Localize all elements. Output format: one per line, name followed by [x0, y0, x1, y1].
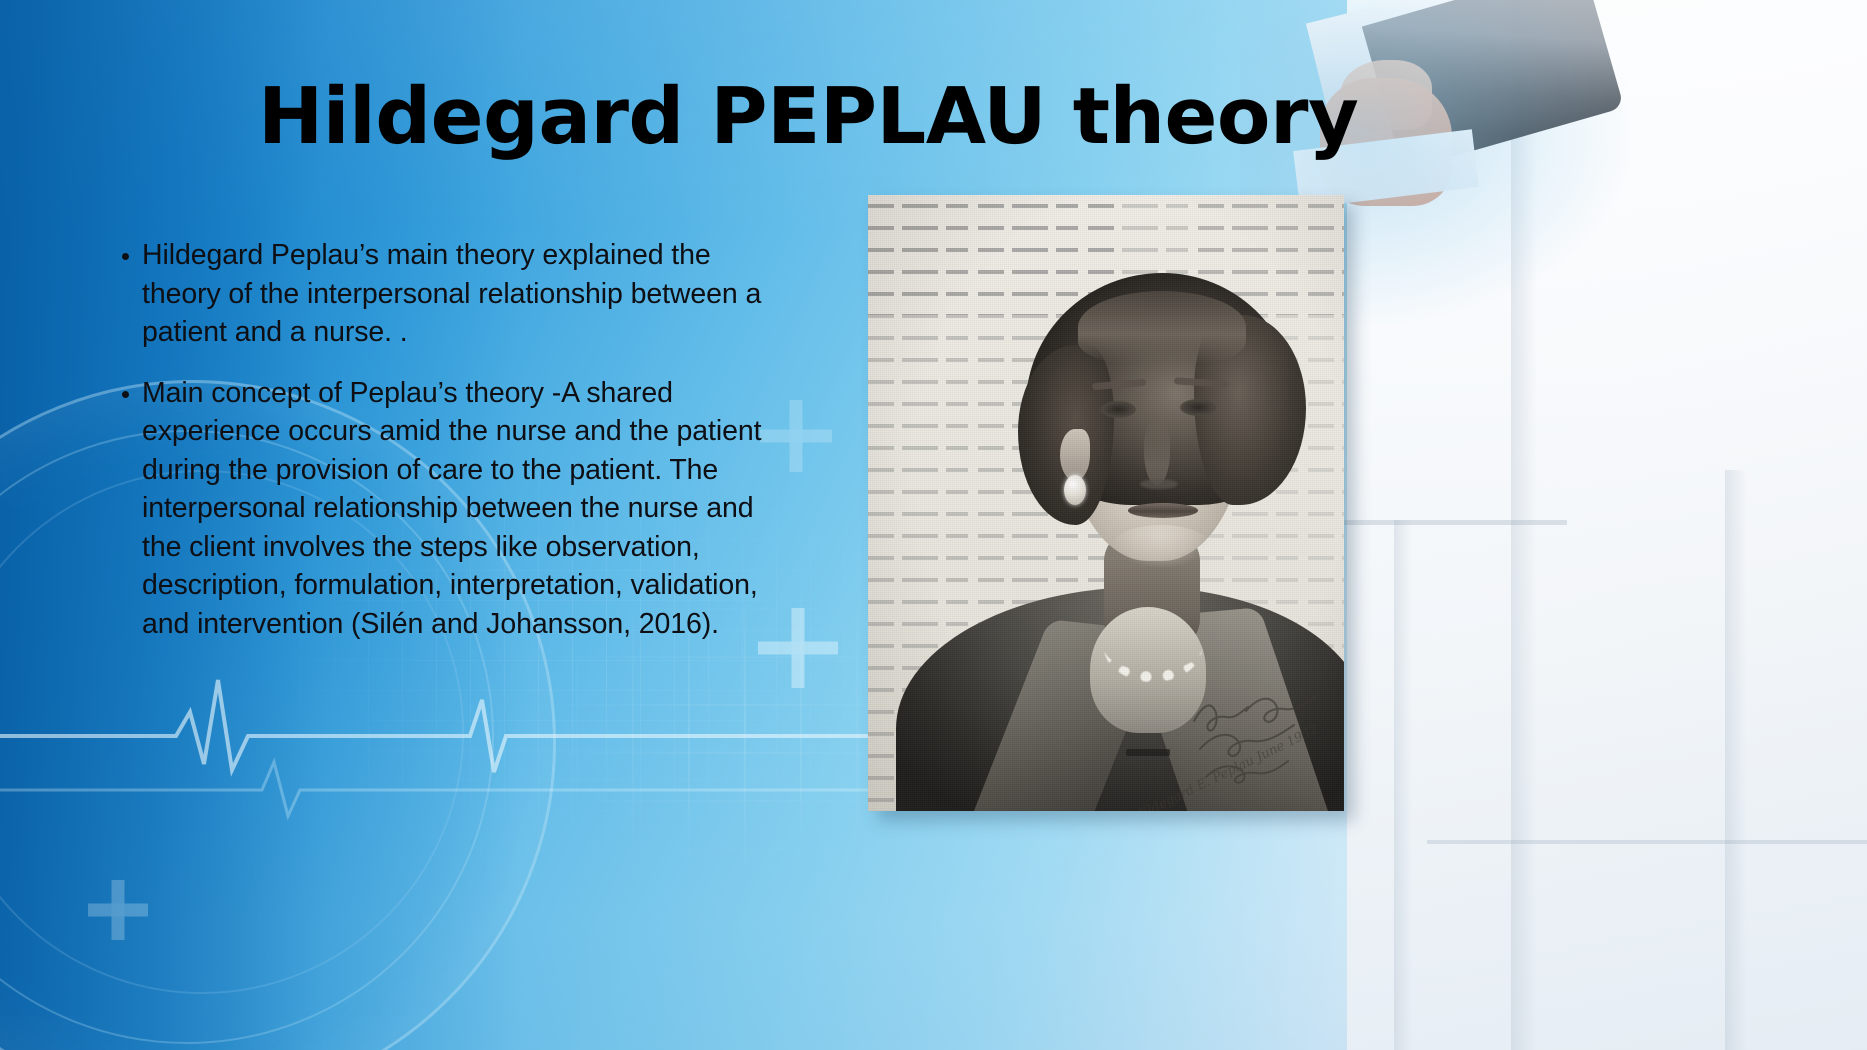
portrait-nostrils	[1140, 479, 1178, 489]
portrait-smudge-mark	[1126, 749, 1170, 756]
bullet-list: Hildegard Peplau’s main theory explained…	[112, 236, 792, 643]
lab-coat-fold-2	[1725, 470, 1747, 1050]
lab-coat-fold-3	[1394, 520, 1412, 1050]
portrait-eye-left	[1100, 401, 1136, 418]
portrait-ear	[1060, 429, 1090, 481]
portrait-eye-right	[1180, 399, 1216, 416]
portrait-hair-fringe	[1078, 291, 1246, 363]
medical-cross-icon-3	[88, 880, 148, 940]
slide-title: Hildegard PEPLAU theory	[258, 78, 1578, 156]
lab-coat-seam-2	[1427, 840, 1867, 844]
portrait-nose	[1144, 419, 1170, 485]
portrait-chin-highlight	[1112, 525, 1210, 567]
portrait-pearl-necklace	[1104, 613, 1202, 682]
portrait-paper-background: Hildegard E. Peplau June 1952	[868, 195, 1344, 811]
slide-body: Hildegard Peplau’s main theory explained…	[112, 236, 792, 643]
bullet-item-1: Hildegard Peplau’s main theory explained…	[112, 236, 792, 352]
presentation-slide: Hildegard PEPLAU theory Hildegard Peplau…	[0, 0, 1867, 1050]
portrait-mouth	[1128, 503, 1198, 518]
peplau-portrait-photo: Hildegard E. Peplau June 1952	[868, 195, 1344, 811]
portrait-earring	[1064, 475, 1086, 505]
bullet-item-2: Main concept of Peplau’s theory -A share…	[112, 374, 792, 644]
